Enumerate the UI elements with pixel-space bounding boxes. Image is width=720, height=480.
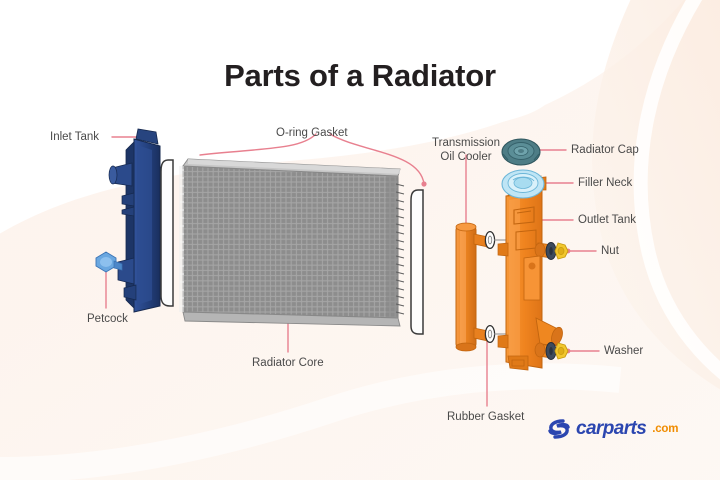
label-transmission-oil-cooler: Transmission Oil Cooler [420,137,512,164]
logo-brand-tld: .com [652,423,678,435]
part-washer-lower[interactable] [546,343,568,360]
label-washer: Washer [604,345,643,358]
label-petcock: Petcock [87,313,128,326]
label-transmission-line2: Oil Cooler [440,151,491,163]
logo-brand-name: carparts [576,418,646,440]
part-inlet-tank[interactable] [109,129,160,312]
label-inlet-tank: Inlet Tank [50,131,99,144]
label-outlet-tank: Outlet Tank [578,214,636,227]
label-nut: Nut [601,245,619,258]
part-nut-upper[interactable] [546,243,568,260]
part-outlet-tank[interactable] [498,176,565,370]
carparts-swoosh-icon [547,418,571,440]
part-filler-neck[interactable] [502,170,544,198]
label-radiator-core: Radiator Core [252,357,324,370]
part-radiator-core[interactable] [179,159,404,326]
label-radiator-cap: Radiator Cap [571,144,639,157]
carparts-logo[interactable]: carparts .com [547,418,678,440]
label-o-ring-gasket: O-ring Gasket [276,127,348,140]
page-title: Parts of a Radiator [0,58,720,94]
part-o-ring-gasket-left[interactable] [161,160,173,306]
label-rubber-gasket: Rubber Gasket [447,411,524,424]
diagram-canvas: Parts of a Radiator Inlet Tank Petcock O… [0,0,720,480]
label-filler-neck: Filler Neck [578,177,632,190]
label-transmission-line1: Transmission [432,137,500,149]
part-o-ring-gasket-right[interactable] [411,190,423,334]
